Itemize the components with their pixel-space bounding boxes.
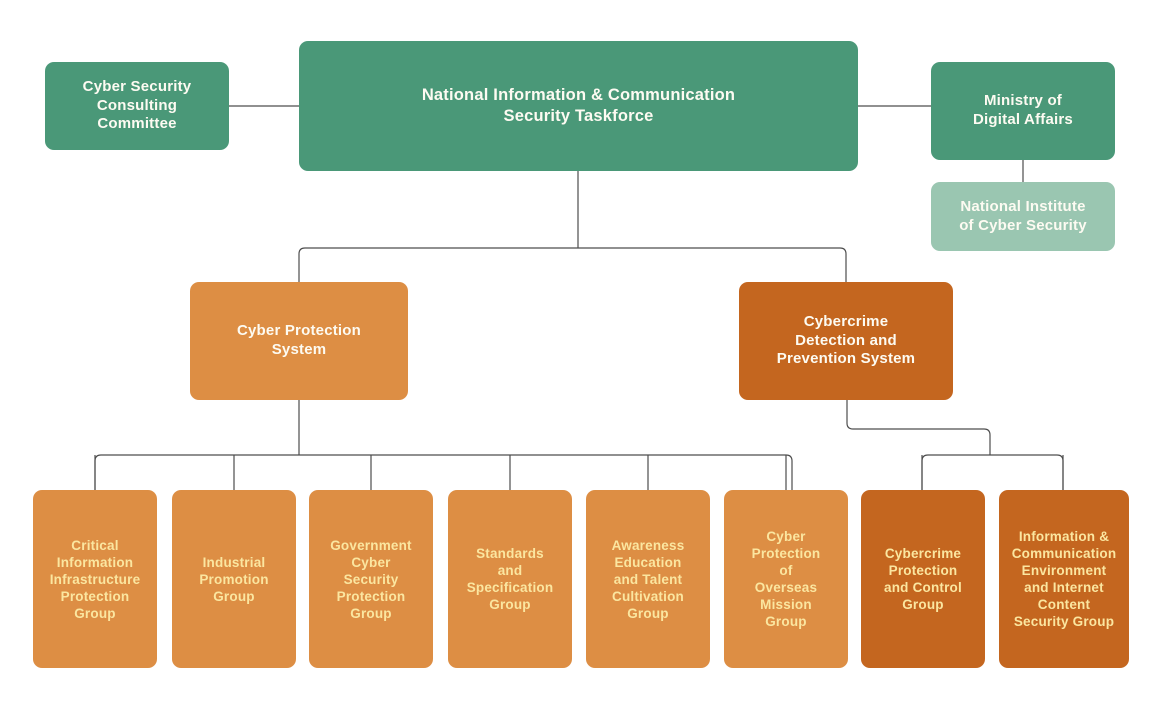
label-ministry-of-digital-affairs: Ministry of Digital Affairs bbox=[973, 92, 1073, 130]
label-cyber-protection-system: Cyber Protection System bbox=[237, 322, 361, 360]
node-cyber-protection-system[interactable]: Cyber Protection System bbox=[190, 282, 408, 400]
label-standards-and-specification-group: Standards and Specification Group bbox=[467, 545, 554, 613]
edge-left-groups-bus bbox=[95, 455, 792, 490]
edge-ccdps-elbow bbox=[847, 400, 990, 455]
node-awareness-education-and-talent-cultivation-group[interactable]: Awareness Education and Talent Cultivati… bbox=[586, 490, 710, 668]
label-cyber-security-consulting-committee: Cyber Security Consulting Committee bbox=[83, 78, 192, 135]
node-national-institute-of-cyber-security[interactable]: National Institute of Cyber Security bbox=[931, 182, 1115, 251]
label-awareness-education-and-talent-cultivation-group: Awareness Education and Talent Cultivati… bbox=[612, 537, 685, 622]
label-national-institute-of-cyber-security: National Institute of Cyber Security bbox=[959, 198, 1087, 236]
node-ministry-of-digital-affairs[interactable]: Ministry of Digital Affairs bbox=[931, 62, 1115, 160]
edge-right-groups-bus bbox=[922, 455, 1063, 490]
label-cyber-protection-of-overseas-mission-group: Cyber Protection of Overseas Mission Gro… bbox=[752, 528, 821, 630]
label-cybercrime-protection-and-control-group: Cybercrime Protection and Control Group bbox=[884, 545, 962, 613]
node-standards-and-specification-group[interactable]: Standards and Specification Group bbox=[448, 490, 572, 668]
node-critical-information-infrastructure-protection-group[interactable]: Critical Information Infrastructure Prot… bbox=[33, 490, 157, 668]
node-cybercrime-detection-and-prevention-system[interactable]: Cybercrime Detection and Prevention Syst… bbox=[739, 282, 953, 400]
node-national-ict-security-taskforce[interactable]: National Information & Communication Sec… bbox=[299, 41, 858, 171]
node-cyber-security-consulting-committee[interactable]: Cyber Security Consulting Committee bbox=[45, 62, 229, 150]
label-national-ict-security-taskforce: National Information & Communication Sec… bbox=[422, 85, 735, 127]
node-information-communication-environment-and-internet-content-security-group[interactable]: Information & Communication Environment … bbox=[999, 490, 1129, 668]
org-chart: Cyber Security Consulting Committee Nati… bbox=[0, 0, 1169, 715]
label-cybercrime-detection-and-prevention-system: Cybercrime Detection and Prevention Syst… bbox=[777, 313, 915, 370]
label-industrial-promotion-group: Industrial Promotion Group bbox=[199, 554, 268, 605]
label-information-communication-environment-and-internet-content-security-group: Information & Communication Environment … bbox=[1012, 528, 1117, 630]
node-cybercrime-protection-and-control-group[interactable]: Cybercrime Protection and Control Group bbox=[861, 490, 985, 668]
edge-systems-bus bbox=[299, 248, 846, 282]
node-industrial-promotion-group[interactable]: Industrial Promotion Group bbox=[172, 490, 296, 668]
label-government-cyber-security-protection-group: Government Cyber Security Protection Gro… bbox=[330, 537, 412, 622]
node-cyber-protection-of-overseas-mission-group[interactable]: Cyber Protection of Overseas Mission Gro… bbox=[724, 490, 848, 668]
node-government-cyber-security-protection-group[interactable]: Government Cyber Security Protection Gro… bbox=[309, 490, 433, 668]
label-critical-information-infrastructure-protection-group: Critical Information Infrastructure Prot… bbox=[50, 537, 141, 622]
